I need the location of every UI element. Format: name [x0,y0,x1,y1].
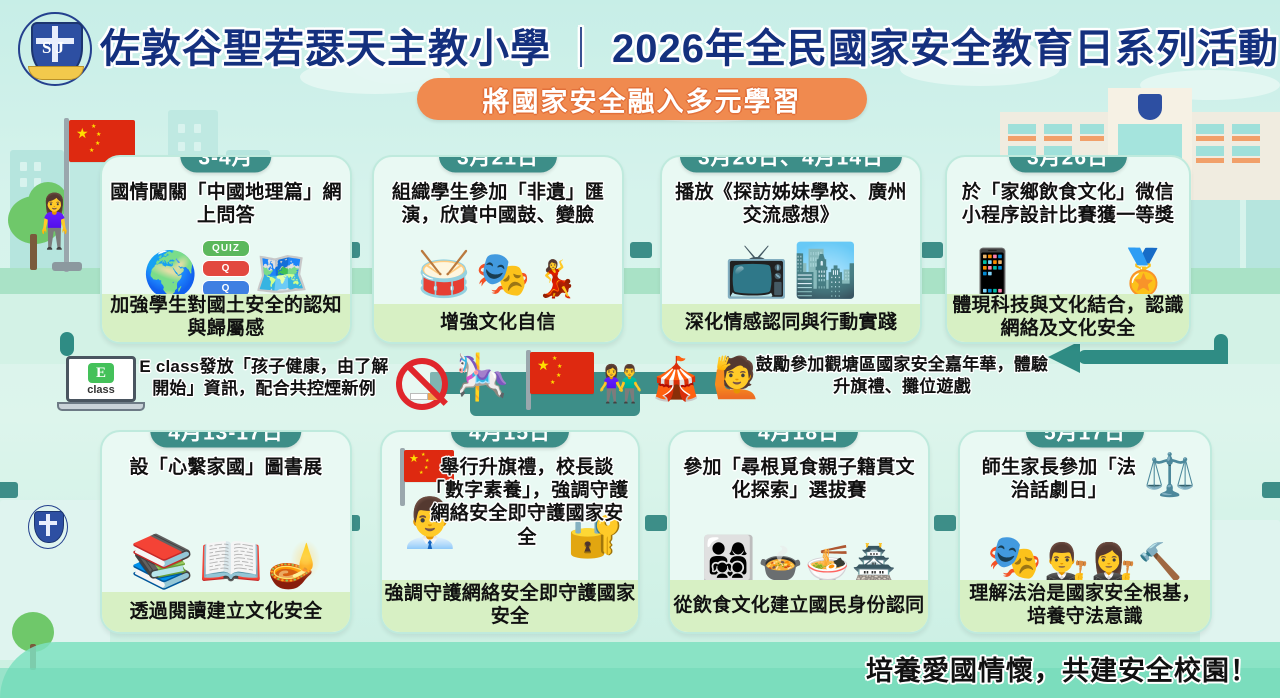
timeline-card[interactable]: 4月15日 舉行升旗禮，校長談「數字素養」，強調守護網絡安全即守護國家安全 ★ … [380,430,640,634]
dancers-icon: 💃 [534,261,579,297]
desk-lamp-icon: 🪔 [267,544,322,588]
gavel-icon: 🔨 [1138,544,1183,580]
timeline-card[interactable]: 3月26日、4月14日 播放《探訪姊妹學校、廣州交流感想》 📺 🏙️ 深化情感認… [660,155,922,344]
building-shape [1200,520,1280,660]
lawyer-icons: 👩‍⚖️ [1091,544,1136,580]
card-title: 於「家鄉飲食文化」微信小程序設計比賽獲一等獎 [955,181,1181,227]
chinese-drum-icon: 🥁 [417,253,472,297]
card-date-chip: 3月26日 [1009,155,1127,173]
theatre-stage-icon: 🎭 [987,536,1042,580]
card-outcome: 深化情感認同與行動實踐 [662,304,920,342]
connector-tab [1262,482,1280,498]
header: SJ 佐敦谷聖若瑟天主教小學｜2026年全民國家安全教育日系列活動 [0,0,1280,72]
quiz-chip-2: Q [202,260,250,277]
card-title: 師生家長參加「法治話劇日」 [974,456,1144,502]
connector-tab [630,242,652,258]
card-title: 參加「尋根覓食親子籍貫文化探索」選拔賽 [678,456,920,502]
timeline-card[interactable]: 3月26日 於「家鄉飲食文化」微信小程序設計比賽獲一等獎 📱 🏅 體現科技與文化… [945,155,1191,344]
card-date-chip: 4月15日 [451,430,569,448]
card-illustration: 👨‍👩‍👧‍👦 🍲 🍜 🏯 [670,506,928,582]
card-date-chip: 3月26日、4月14日 [680,155,902,173]
card-illustration: 📺 🏙️ [662,237,920,297]
television-icon: 📺 [724,245,789,297]
connector-tab [645,515,667,531]
card-outcome: 體現科技與文化結合，認識網絡及文化安全 [947,294,1189,342]
crest-initials: SJ [18,38,92,58]
page-title: 佐敦谷聖若瑟天主教小學｜2026年全民國家安全教育日系列活動 [100,16,1180,74]
title-separator: ｜ [551,27,612,71]
card-illustration: 🎭 👨‍⚖️ 👩‍⚖️ 🔨 [960,512,1210,580]
quiz-buttons-icon: QUIZ Q Q [202,240,250,297]
laptop-icon: E class [66,356,136,412]
china-map-icon: 🗺️ [254,253,309,297]
event-title: 2026年全民國家安全教育日系列活動 [612,27,1279,71]
card-illustration: 🌍 QUIZ Q Q 🗺️ [102,235,350,297]
card-outcome: 理解法治是國家安全根基，培養守法意識 [960,580,1210,632]
circus-tent-icon: 🎪 [650,358,702,400]
card-outcome: 加強學生對國土安全的認知與歸屬感 [102,294,350,342]
card-title: 舉行升旗禮，校長談「數字素養」，強調守護網絡安全即守護國家安全 [422,456,632,549]
china-flag-icon: ★ ★ ★ ★ ★ [530,352,594,394]
food-bowls-icon: 🍜 [805,546,850,582]
card-illustration: 🥁 🎭 💃 [374,239,622,297]
student-illustration: 🧍‍♀️ [22,196,87,248]
family-icon: 👨‍👩‍👧‍👦 [701,538,756,582]
flow-arrow-line [60,332,74,356]
middle-note-right: 鼓勵參加觀塘區國家安全嘉年華，體驗升旗禮、攤位遊戲 [752,354,1052,398]
flow-arrow-line [1214,334,1228,364]
card-title: 國情闖關「中國地理篇」網上問答 [110,181,342,227]
globe-icon: 🌍 [143,253,198,297]
card-date-chip: 5月17日 [1026,430,1144,448]
subtitle-banner: 將國家安全融入多元學習 [417,78,867,120]
connector-tab [921,242,943,258]
scales-of-justice-icon: ⚖️ [1144,454,1196,496]
card-date-chip: 3-4月 [180,155,271,173]
footer-slogan: 培養愛國情懷，共建安全校園！ [866,649,1258,688]
card-outcome: 從飲食文化建立國民身份認同 [670,580,928,632]
ancestral-hall-icon: 🏯 [852,546,897,582]
connector-tab [0,482,18,498]
timeline-card[interactable]: 3-4月 國情闖關「中國地理篇」網上問答 🌍 QUIZ Q Q 🗺️ 加強學生對… [100,155,352,344]
flagpole-base [52,262,82,271]
carousel-icon: 🎠 [455,356,510,400]
smartphone-food-icon: 📱 [965,251,1020,295]
card-date-chip: 4月13-17日 [150,430,301,448]
card-outcome: 增強文化自信 [374,304,622,342]
books-icon: 📚 [130,536,195,588]
food-bowls-icon: 🍲 [758,546,803,582]
card-outcome: 強調守護網絡安全即守護國家安全 [382,580,638,632]
school-name: 佐敦谷聖若瑟天主教小學 [100,27,551,71]
middle-note-left: E class發放「孩子健康，由了解開始」資訊，配合共控煙新例 [134,356,394,400]
open-book-icon: 📖 [199,536,264,588]
connector-tab [934,515,956,531]
children-icon: 👫 [598,366,643,402]
timeline-card[interactable]: 4月13-17日 設「心繫家國」圖書展 📚 📖 🪔 透過閱讀建立文化安全 [100,430,352,634]
no-smoking-icon [396,358,448,410]
card-illustration: 📱 🏅 [947,233,1189,295]
opera-mask-icon: 🎭 [476,253,531,297]
timeline-card[interactable]: 4月18日 參加「尋根覓食親子籍貫文化探索」選拔賽 👨‍👩‍👧‍👦 🍲 🍜 🏯 … [668,430,930,634]
card-title: 設「心繫家國」圖書展 [110,456,342,479]
school-crest-small [28,505,68,549]
eclass-word: class [87,384,115,396]
flow-arrow-line [1078,350,1228,364]
card-outcome: 透過閱讀建立文化安全 [102,592,350,632]
flow-arrow-head [1048,341,1080,373]
card-date-chip: 4月18日 [740,430,858,448]
lawyer-icons: 👨‍⚖️ [1044,544,1089,580]
card-title: 播放《探訪姊妹學校、廣州交流感想》 [670,181,912,227]
eclass-letter: E [88,363,114,383]
first-prize-medal-icon: 🏅 [1116,251,1171,295]
city-skyline-icon: 🏙️ [793,245,858,297]
school-crest-icon: SJ [18,12,92,86]
subtitle-text: 將國家安全融入多元學習 [483,80,802,119]
quiz-chip-1: QUIZ [202,240,250,257]
timeline-card[interactable]: 3月21日 組織學生參加「非遺」匯演，欣賞中國鼓、變臉 🥁 🎭 💃 增強文化自信 [372,155,624,344]
infographic-poster: ★ ★ ★ ★ ★ 🧍‍♀️ 🧍 SJ 佐敦谷 [0,0,1280,698]
card-illustration: 📚 📖 🪔 [102,492,350,588]
card-title: 組織學生參加「非遺」匯演，欣賞中國鼓、變臉 [382,181,614,227]
timeline-card[interactable]: 5月17日 師生家長參加「法治話劇日」 ⚖️ 🎭 👨‍⚖️ 👩‍⚖️ 🔨 理解法… [958,430,1212,634]
card-date-chip: 3月21日 [439,155,557,173]
